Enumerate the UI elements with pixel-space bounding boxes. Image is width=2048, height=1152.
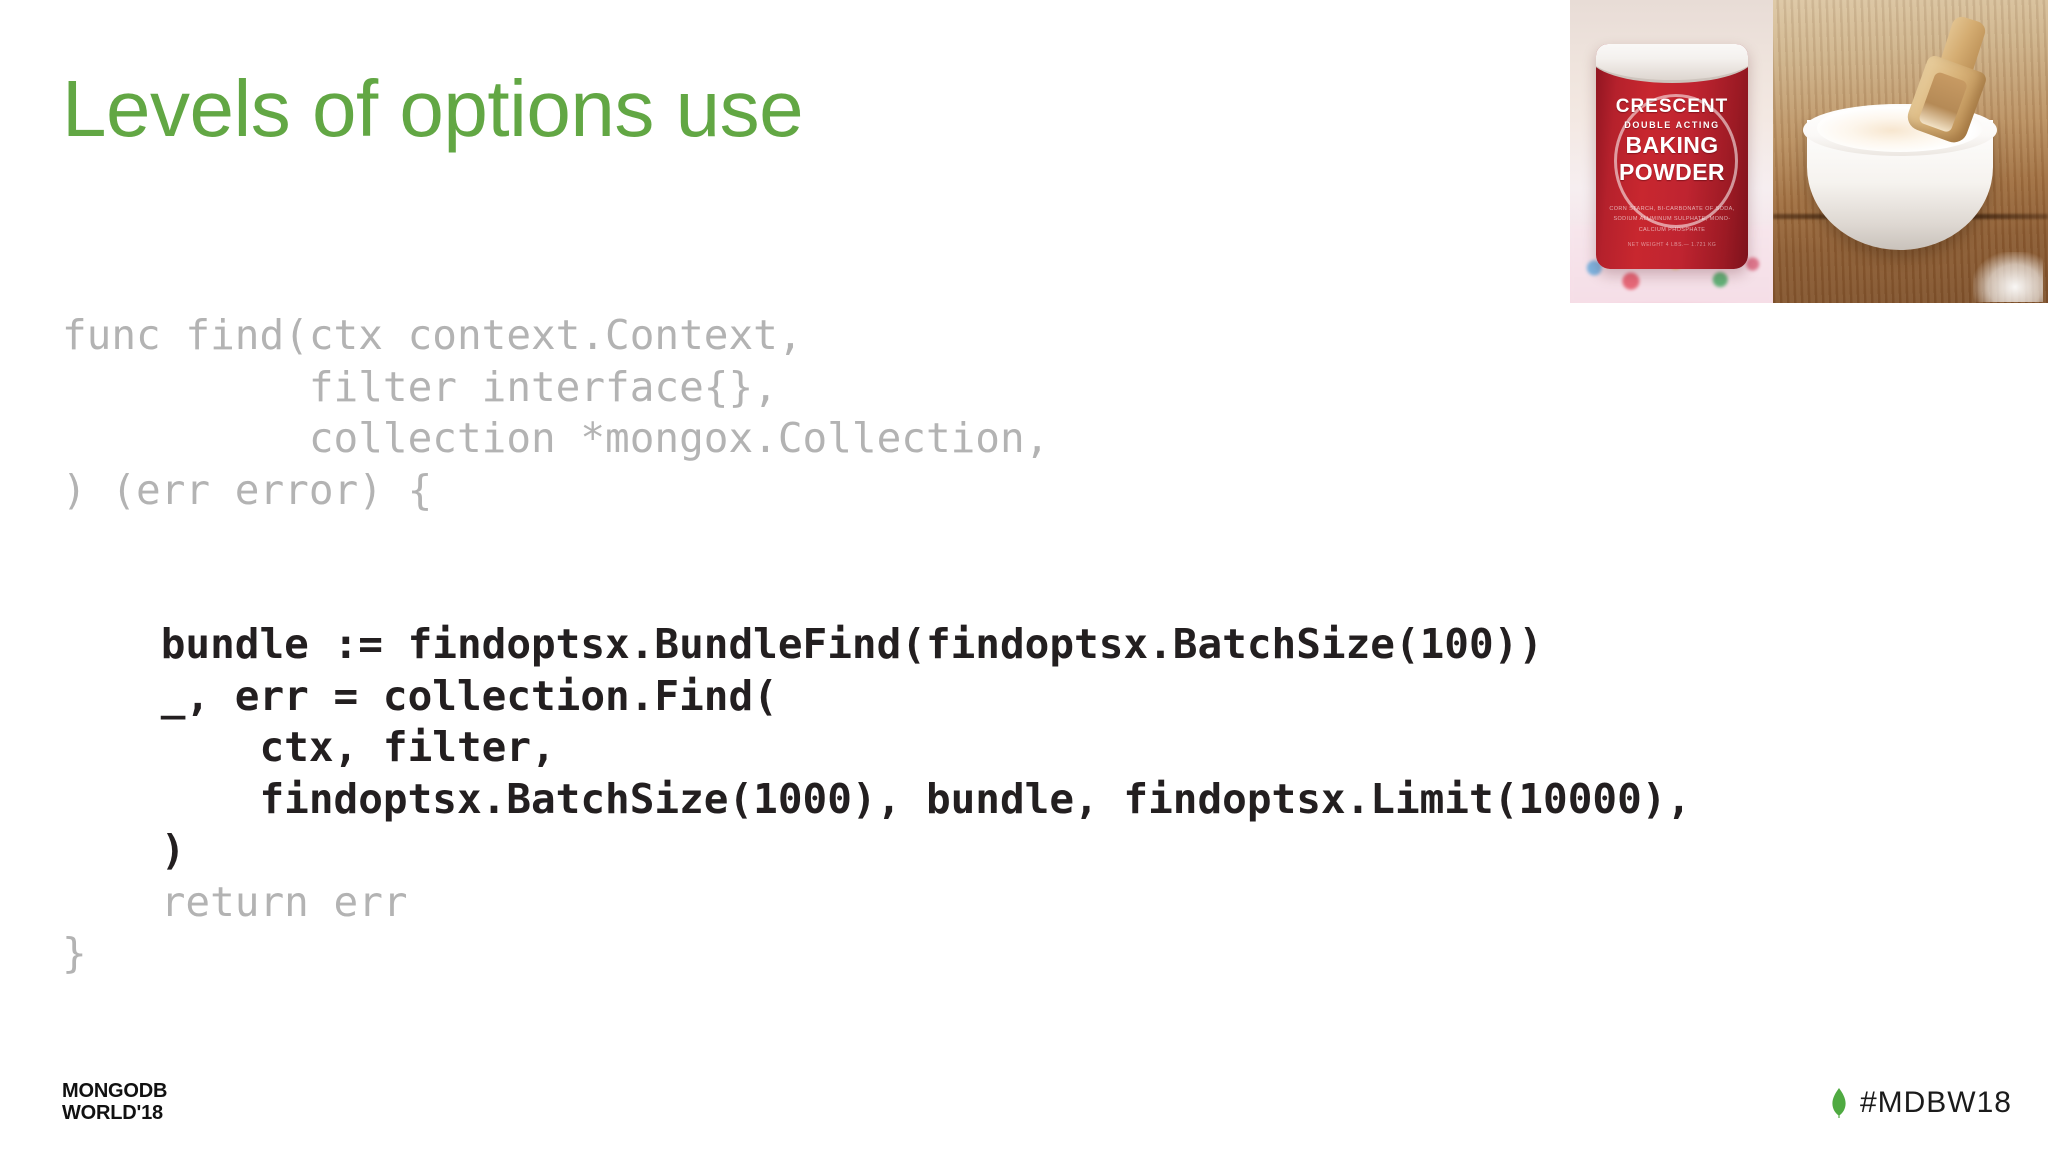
code-line: bundle := findoptsx.BundleFind(findoptsx… <box>62 620 1543 668</box>
logo-line-1: MONGODB <box>62 1080 167 1102</box>
code-line: collection *mongox.Collection, <box>62 414 1049 462</box>
can-lid <box>1596 44 1748 83</box>
code-line: _, err = collection.Find( <box>62 672 778 720</box>
code-line: return err <box>62 878 408 926</box>
powder-can: CRESCENT DOUBLE ACTING BAKING POWDER COR… <box>1596 44 1748 269</box>
hashtag-text: #MDBW18 <box>1860 1086 2012 1120</box>
code-line: ) <box>62 826 185 874</box>
slide: Levels of options use CRESCENT DOUBLE AC… <box>0 0 2048 1152</box>
baking-soda-bowl-image <box>1773 0 2048 303</box>
code-line <box>62 516 1691 568</box>
scoop-inner <box>1918 71 1968 133</box>
code-line: func find(ctx context.Context, <box>62 311 803 359</box>
code-line: } <box>62 929 87 977</box>
page-title: Levels of options use <box>62 67 803 151</box>
can-net-weight: NET WEIGHT 4 LBS.— 1.721 KG <box>1596 242 1748 248</box>
code-line: findoptsx.BatchSize(1000), bundle, findo… <box>62 775 1691 823</box>
can-label: CRESCENT DOUBLE ACTING BAKING POWDER <box>1596 96 1748 186</box>
can-brand: CRESCENT <box>1596 96 1748 118</box>
can-subtitle: DOUBLE ACTING <box>1596 120 1748 130</box>
code-block: func find(ctx context.Context, filter in… <box>62 310 1691 980</box>
can-product-line2: POWDER <box>1596 159 1748 186</box>
baking-powder-can-image: CRESCENT DOUBLE ACTING BAKING POWDER COR… <box>1570 0 1773 303</box>
event-hashtag: #MDBW18 <box>1830 1086 2012 1120</box>
photo-strip: CRESCENT DOUBLE ACTING BAKING POWDER COR… <box>1570 0 2048 303</box>
spilled-powder <box>1973 252 2043 302</box>
code-line: filter interface{}, <box>62 363 778 411</box>
mongodb-world-logo: MONGODB WORLD'18 <box>62 1080 167 1124</box>
can-product-line1: BAKING <box>1596 132 1748 159</box>
code-line: ) (err error) { <box>62 466 432 514</box>
mongodb-leaf-icon <box>1830 1088 1848 1118</box>
can-ingredients: CORN STARCH, BI-CARBONATE OF SODA, SODIU… <box>1606 204 1738 235</box>
code-line: ctx, filter, <box>62 723 556 771</box>
logo-line-2: WORLD'18 <box>62 1102 167 1124</box>
